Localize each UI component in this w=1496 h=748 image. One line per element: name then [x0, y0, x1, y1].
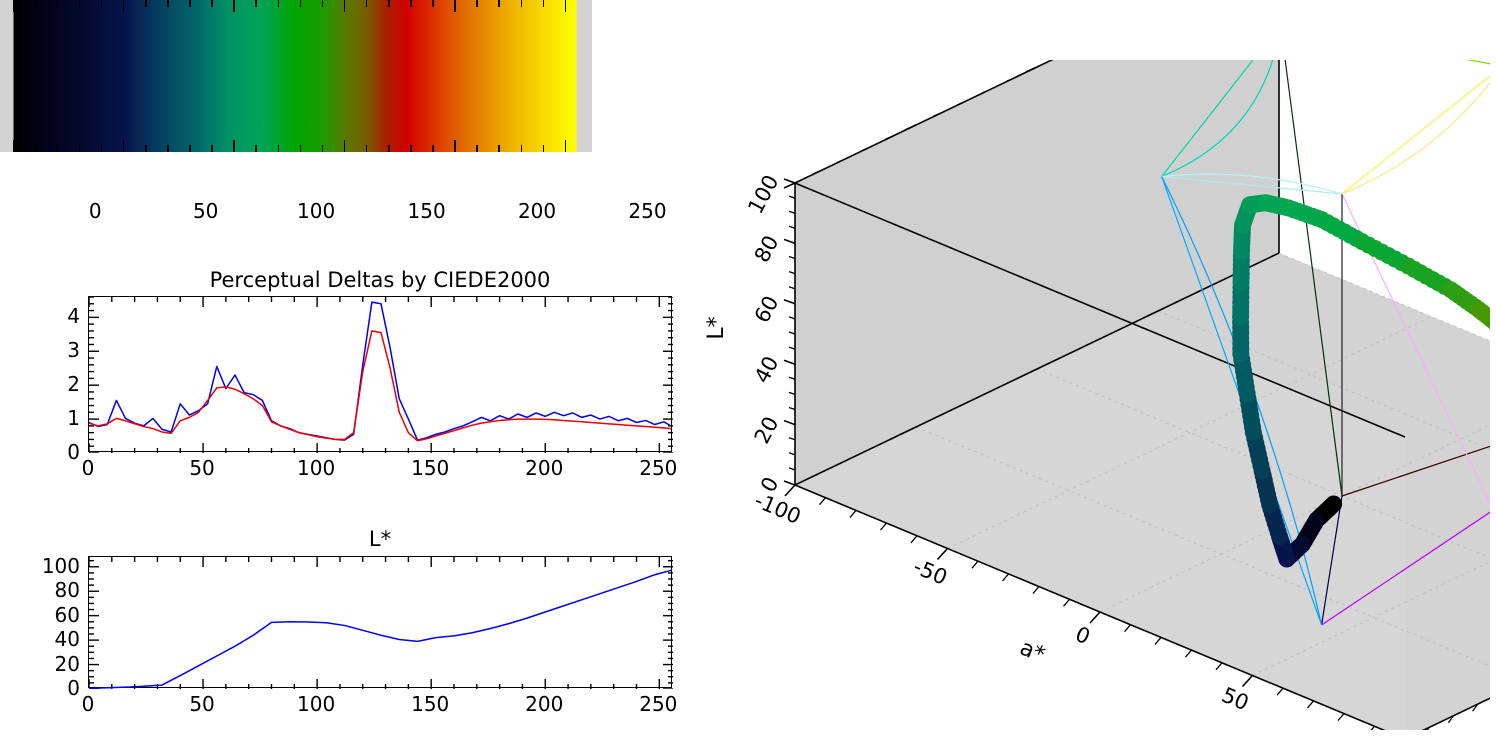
colorbar-minor-tick — [145, 0, 147, 7]
colorbar-minor-tick — [476, 145, 478, 152]
a-minor-tick — [1308, 701, 1314, 708]
l-major-tick — [784, 421, 795, 425]
colorbar-minor-tick — [543, 0, 545, 7]
y-tick-label: 4 — [30, 304, 80, 328]
l-minor-tick — [789, 347, 795, 349]
a-minor-tick — [1064, 599, 1070, 606]
x-tick-label: 50 — [189, 456, 214, 480]
a-tick-label: 50 — [1218, 683, 1252, 716]
x-tick-label: 50 — [189, 692, 214, 716]
l-tick-label: 20 — [750, 413, 784, 448]
colorbar-tick-label: 100 — [297, 199, 335, 223]
colorbar-major-tick — [13, 0, 15, 12]
delta-plot-frame — [88, 296, 672, 452]
delta-title: Perceptual Deltas by CIEDE2000 — [88, 268, 672, 292]
y-tick-label: 20 — [30, 652, 80, 676]
colorbar-minor-tick — [366, 145, 368, 152]
colorbar-minor-tick — [300, 0, 302, 7]
a-minor-tick — [911, 536, 917, 543]
y-tick-label: 0 — [30, 440, 80, 464]
colorbar-minor-tick — [432, 0, 434, 7]
l-minor-tick — [789, 377, 795, 379]
colorbar-minor-tick — [57, 0, 59, 7]
x-tick-label: 200 — [525, 456, 563, 480]
colorbar-minor-tick — [57, 145, 59, 152]
lab-colorspace-3d-panel: 020406080100L*-100-50050100a*-100-50050b… — [700, 60, 1490, 730]
y-tick-label: 3 — [30, 338, 80, 362]
l-axis-label: L* — [704, 316, 729, 339]
lstar-plot-frame — [88, 556, 672, 688]
a-minor-tick — [1216, 663, 1222, 670]
colorbar-major-tick — [565, 140, 567, 152]
colorbar-minor-tick — [278, 0, 280, 7]
colorbar-minor-tick — [255, 0, 257, 7]
a-minor-tick — [820, 498, 826, 505]
l-major-tick — [784, 481, 795, 485]
colorbar-minor-tick — [35, 0, 37, 7]
a-major-tick — [785, 485, 795, 496]
l-major-tick — [784, 239, 795, 243]
colorbar-tick-label: 150 — [408, 199, 446, 223]
a-minor-tick — [1186, 650, 1192, 657]
gamut-arc — [1281, 60, 1490, 66]
a-major-tick — [1243, 676, 1253, 687]
x-tick-label: 0 — [82, 456, 95, 480]
lstar-title: L* — [88, 527, 672, 551]
colorbar-minor-tick — [79, 145, 81, 152]
y-tick-label: 0 — [30, 676, 80, 700]
y-tick-label: 2 — [30, 372, 80, 396]
delta-series-svg — [89, 297, 673, 453]
colorbar-tick-label: 200 — [518, 199, 556, 223]
colorbar-minor-tick — [322, 145, 324, 152]
x-tick-label: 250 — [639, 456, 677, 480]
l-minor-tick — [789, 287, 795, 289]
colorbar-major-tick — [123, 0, 125, 12]
colorbar-minor-tick — [167, 145, 169, 152]
colorbar-tick-label: 250 — [628, 199, 666, 223]
x-tick-label: 100 — [297, 692, 335, 716]
colorbar-minor-tick — [101, 145, 103, 152]
x-tick-label: 200 — [525, 692, 563, 716]
colorbar-minor-tick — [211, 0, 213, 7]
colorbar-major-tick — [123, 140, 125, 152]
colorbar-swatch — [0, 0, 592, 152]
colorbar-minor-tick — [476, 0, 478, 7]
colorbar-tick-label: 0 — [89, 199, 102, 223]
colorbar-x-axis: 050100150200250 — [82, 195, 674, 231]
l-minor-tick — [789, 453, 795, 455]
l-minor-tick — [789, 196, 795, 198]
colorbar-gradient — [0, 0, 592, 152]
l-major-tick — [784, 179, 795, 183]
top-rail-tick — [784, 183, 795, 188]
l-minor-tick — [789, 468, 795, 470]
a-tick-label: -50 — [910, 554, 951, 589]
colorbar-major-tick — [13, 140, 15, 152]
colorbar-major-tick — [454, 0, 456, 12]
y-tick-label: 60 — [30, 603, 80, 627]
colorbar-minor-tick — [498, 0, 500, 7]
l-minor-tick — [789, 211, 795, 213]
colorbar-major-tick — [233, 140, 235, 152]
a-minor-tick — [1277, 688, 1283, 695]
colorbar-major-tick — [344, 0, 346, 12]
l-major-tick — [784, 360, 795, 364]
colorbar-minor-tick — [521, 145, 523, 152]
colorbar-minor-tick — [189, 145, 191, 152]
series-line-1 — [89, 331, 671, 441]
colorbar-major-tick — [233, 0, 235, 12]
l-major-tick — [784, 300, 795, 304]
l-minor-tick — [789, 438, 795, 440]
a-minor-tick — [881, 523, 887, 530]
a-axis-label: a* — [1016, 636, 1048, 669]
colorbar-minor-tick — [255, 145, 257, 152]
l-minor-tick — [789, 332, 795, 334]
x-tick-label: 150 — [411, 692, 449, 716]
l-tick-label: 60 — [750, 292, 784, 327]
a-minor-tick — [1369, 726, 1375, 730]
colorbar-minor-tick — [521, 0, 523, 7]
gamut-edge — [1342, 66, 1490, 194]
colorbar-minor-tick — [300, 145, 302, 152]
l-minor-tick — [789, 272, 795, 274]
a-minor-tick — [850, 510, 856, 517]
colorbar-minor-tick — [410, 0, 412, 7]
colorbar-minor-tick — [322, 0, 324, 7]
y-tick-label: 40 — [30, 627, 80, 651]
colorbar-major-tick — [344, 140, 346, 152]
a-minor-tick — [1338, 714, 1344, 721]
colorbar-minor-tick — [388, 0, 390, 7]
a-minor-tick — [1033, 587, 1039, 594]
l-tick-label: 80 — [750, 231, 784, 266]
colorbar-minor-tick — [432, 145, 434, 152]
l-minor-tick — [789, 257, 795, 259]
l-tick-label: 40 — [750, 352, 784, 387]
x-tick-label: 0 — [82, 692, 95, 716]
colorbar-minor-tick — [189, 0, 191, 7]
l-minor-tick — [789, 392, 795, 394]
y-tick-label: 1 — [30, 406, 80, 430]
x-tick-label: 100 — [297, 456, 335, 480]
a-minor-tick — [972, 561, 978, 568]
colorbar-minor-tick — [278, 145, 280, 152]
a-tick-label: 0 — [1072, 622, 1094, 649]
a-minor-tick — [1155, 637, 1161, 644]
lab-colorspace-svg: 020406080100L*-100-50050100a*-100-50050b… — [700, 60, 1490, 730]
gamut-edge — [1281, 60, 1490, 66]
gamut-arc — [1342, 66, 1490, 194]
l-minor-tick — [789, 317, 795, 319]
colorbar-major-tick — [565, 0, 567, 12]
y-tick-label: 100 — [30, 554, 80, 578]
x-tick-label: 250 — [639, 692, 677, 716]
a-minor-tick — [1125, 625, 1131, 632]
y-tick-label: 80 — [30, 578, 80, 602]
colorbar-minor-tick — [79, 0, 81, 7]
colorbar-minor-tick — [366, 0, 368, 7]
lstar-series-svg — [89, 557, 673, 689]
x-tick-label: 150 — [411, 456, 449, 480]
colorbar-minor-tick — [543, 145, 545, 152]
colorbar-tick-label: 50 — [193, 199, 218, 223]
colorbar-minor-tick — [35, 145, 37, 152]
colorbar-minor-tick — [211, 145, 213, 152]
colorbar-minor-tick — [167, 0, 169, 7]
series-line-0 — [89, 302, 671, 440]
colorbar-minor-tick — [410, 145, 412, 152]
colorbar-minor-tick — [388, 145, 390, 152]
l-minor-tick — [789, 226, 795, 228]
colorbar-panel: 050100150200250 — [0, 0, 592, 152]
l-minor-tick — [789, 408, 795, 410]
colorbar-major-tick — [454, 140, 456, 152]
a-major-tick — [1090, 612, 1100, 623]
series-line-0 — [89, 570, 671, 688]
colorbar-minor-tick — [498, 145, 500, 152]
colorbar-minor-tick — [145, 145, 147, 152]
a-major-tick — [938, 549, 948, 560]
a-minor-tick — [1003, 574, 1009, 581]
colorbar-minor-tick — [101, 0, 103, 7]
l-tick-label: 100 — [743, 171, 783, 218]
